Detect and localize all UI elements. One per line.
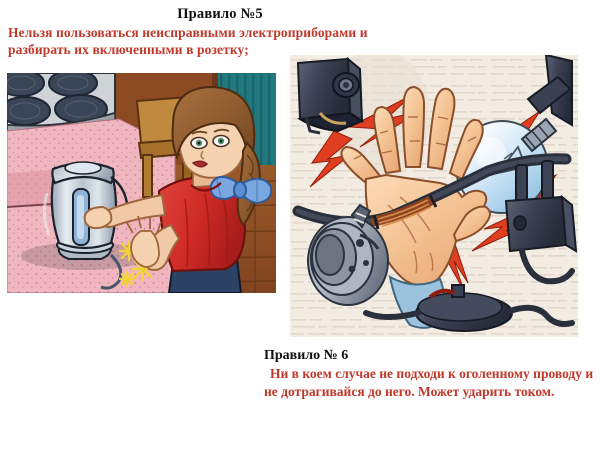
rule5-body-line1: Нельзя пользоваться неисправными электро… [8,24,428,41]
rule6-body: Ни в коем случае не подходи к оголенному… [264,365,594,400]
rule6-block: Правило № 6 Ни в коем случае не подходи … [264,348,594,400]
girl-hand-left [85,207,112,228]
switch-box [298,59,362,133]
rule5-body: Нельзя пользоваться неисправными электро… [8,24,428,59]
illustration-hand-on-bare-wire [290,55,578,337]
rule6-title: Правило № 6 [264,348,594,364]
illustration-girl-and-sparking-kettle [7,73,276,293]
rule5-title: Правило №5 [0,6,440,23]
